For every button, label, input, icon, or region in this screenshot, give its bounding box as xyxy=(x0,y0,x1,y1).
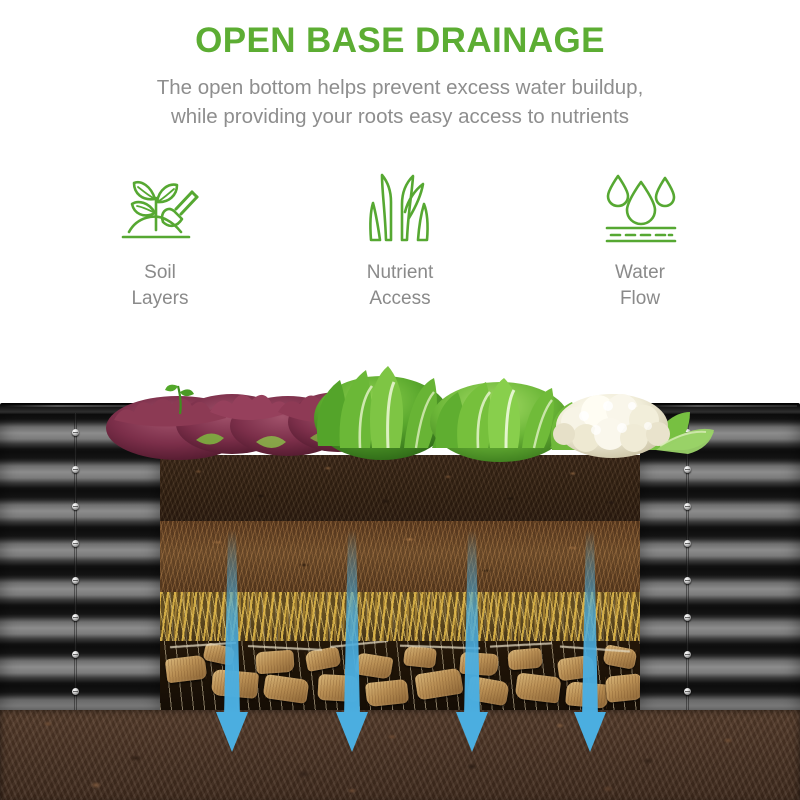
plant-green-romaine-lettuce xyxy=(314,366,466,460)
feature-label-line-2: Flow xyxy=(540,286,740,312)
soil-layer-wood xyxy=(160,641,640,710)
panel-rim-gloss xyxy=(3,405,157,407)
soil-layer-topsoil xyxy=(160,455,640,521)
panel-screw xyxy=(72,651,79,658)
header: OPEN BASE DRAINAGE The open bottom helps… xyxy=(0,0,800,132)
panel-seam-right xyxy=(686,413,689,710)
feature-list: Soil Layers xyxy=(60,168,740,311)
panel-screw xyxy=(72,688,79,695)
feature-soil-layers: Soil Layers xyxy=(60,168,260,311)
soil-cross-section xyxy=(160,455,640,710)
soil-layer-straw xyxy=(160,592,640,641)
raised-garden-bed-scene xyxy=(0,340,800,800)
feature-label-line-2: Layers xyxy=(60,286,260,312)
panel-screw xyxy=(684,614,691,621)
panel-top-rim-right xyxy=(640,403,800,415)
panel-top-rim-left xyxy=(0,403,160,415)
subtitle-line-1: The open bottom helps prevent excess wat… xyxy=(0,73,800,103)
panel-screw xyxy=(72,577,79,584)
feature-label-line-1: Nutrient xyxy=(300,260,500,286)
plant-green-cabbage xyxy=(430,378,584,462)
feature-soil-layers-label: Soil Layers xyxy=(60,260,260,311)
infographic-page: OPEN BASE DRAINAGE The open bottom helps… xyxy=(0,0,800,800)
feature-label-line-1: Soil xyxy=(60,260,260,286)
page-title: OPEN BASE DRAINAGE xyxy=(0,0,800,61)
panel-screw xyxy=(684,429,691,436)
panel-screw xyxy=(684,577,691,584)
panel-screw xyxy=(72,466,79,473)
feature-label-line-1: Water xyxy=(540,260,740,286)
panel-rim-gloss xyxy=(643,405,797,407)
feature-nutrient-access-label: Nutrient Access xyxy=(300,260,500,311)
water-droplets-icon xyxy=(540,168,740,246)
feature-nutrient-access: Nutrient Access xyxy=(300,168,500,311)
panel-screw xyxy=(72,429,79,436)
feature-label-line-2: Access xyxy=(300,286,500,312)
panel-screw xyxy=(72,540,79,547)
feature-water-flow-label: Water Flow xyxy=(540,260,740,311)
panel-screw xyxy=(684,688,691,695)
plant-shovel-icon xyxy=(60,168,260,246)
panel-screw xyxy=(72,614,79,621)
soil-layer-compost xyxy=(160,521,640,592)
plant-row xyxy=(60,346,740,466)
page-subtitle: The open bottom helps prevent excess wat… xyxy=(0,61,800,132)
subtitle-line-2: while providing your roots easy access t… xyxy=(0,102,800,132)
grass-blades-icon xyxy=(300,168,500,246)
panel-screw xyxy=(684,651,691,658)
corrugated-metal-panel-left xyxy=(0,413,160,710)
panel-screw xyxy=(684,466,691,473)
feature-water-flow: Water Flow xyxy=(540,168,740,311)
corrugated-metal-panel-right xyxy=(640,413,800,710)
panel-screw xyxy=(72,503,79,510)
native-ground-soil xyxy=(0,707,800,800)
panel-seam-left xyxy=(74,413,77,710)
panel-screw xyxy=(684,503,691,510)
panel-screw xyxy=(684,540,691,547)
